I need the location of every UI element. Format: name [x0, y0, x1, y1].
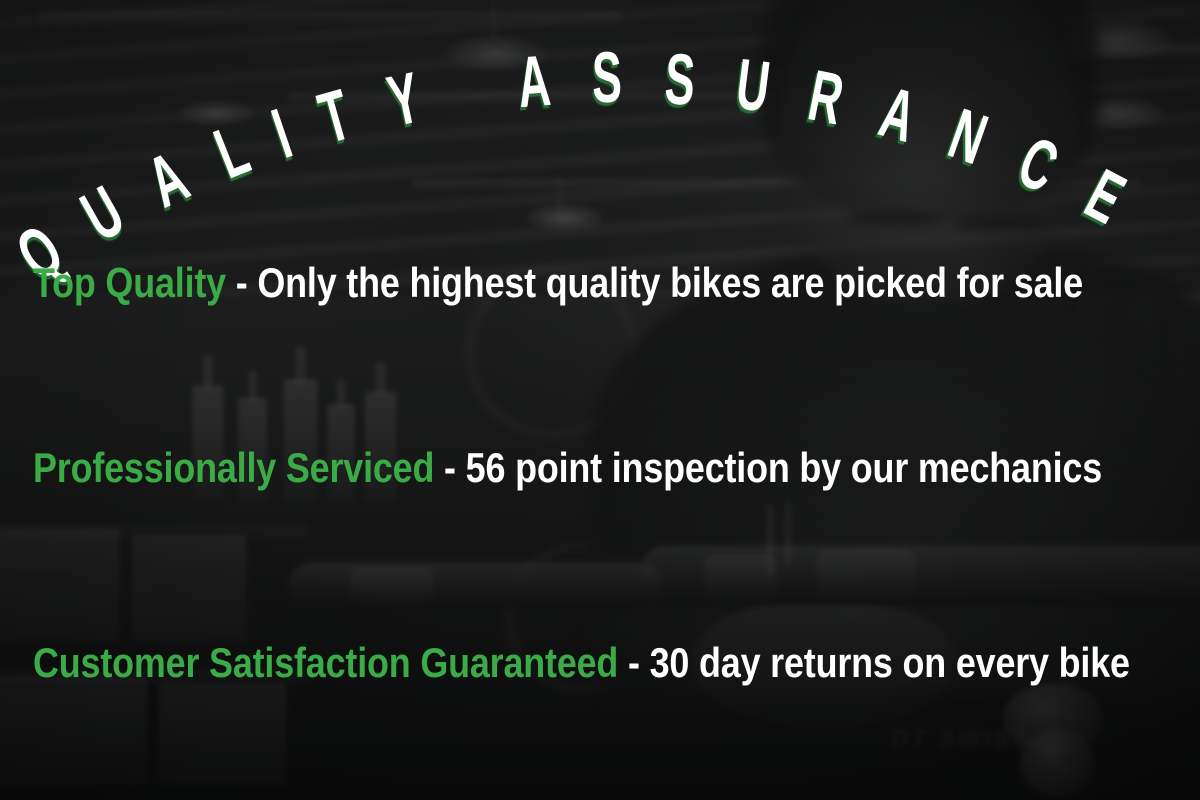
arched-title-letter: I	[261, 97, 303, 172]
arched-title-letter: S	[654, 42, 706, 117]
arched-title-letter: N	[932, 95, 1005, 180]
banner-content: TPCQUALITYASSURANCE Top Quality - Only t…	[0, 0, 1200, 800]
arched-title-letter: A	[130, 136, 208, 223]
arched-title-letter: E	[1068, 154, 1144, 240]
tpc-quality-assurance-banner: DT SWISS TPCQUALITYASSURANCE Top Quality…	[0, 0, 1200, 800]
arched-title-letter: A	[863, 74, 932, 157]
arched-title-letter: U	[62, 170, 143, 258]
benefit-2-description: 56 point inspection by our mechanics	[466, 444, 1102, 491]
benefit-1-description: Only the highest quality bikes are picke…	[257, 259, 1083, 306]
benefit-row-1: Top Quality - Only the highest quality b…	[33, 262, 1200, 304]
benefit-3-separator: -	[618, 639, 649, 686]
benefit-2-separator: -	[434, 444, 465, 491]
benefit-row-3: Customer Satisfaction Guaranteed - 30 da…	[33, 642, 1200, 684]
arched-title-letter: T	[304, 77, 366, 158]
arched-title-letter: A	[505, 44, 563, 120]
arched-title-letter: L	[198, 111, 265, 194]
benefit-row-3-inner: Customer Satisfaction Guaranteed - 30 da…	[33, 642, 1130, 684]
arched-title: TPCQUALITYASSURANCE	[0, 0, 1200, 190]
benefit-row-2-inner: Professionally Serviced - 56 point inspe…	[33, 447, 1102, 489]
benefit-1-label: Top Quality	[33, 259, 226, 306]
benefit-3-label: Customer Satisfaction Guaranteed	[33, 639, 618, 686]
benefit-row-1-inner: Top Quality - Only the highest quality b…	[33, 262, 1083, 304]
benefit-3-description: 30 day returns on every bike	[650, 639, 1130, 686]
benefit-2-label: Professionally Serviced	[33, 444, 434, 491]
benefit-row-2: Professionally Serviced - 56 point inspe…	[33, 447, 1200, 489]
arched-title-letter: R	[793, 58, 858, 139]
arched-title-letter: C	[1000, 121, 1076, 208]
arched-title-letter: U	[722, 47, 783, 125]
arched-title-letter: S	[583, 42, 632, 115]
arched-title-letter: Y	[373, 60, 435, 140]
benefit-1-separator: -	[226, 259, 257, 306]
